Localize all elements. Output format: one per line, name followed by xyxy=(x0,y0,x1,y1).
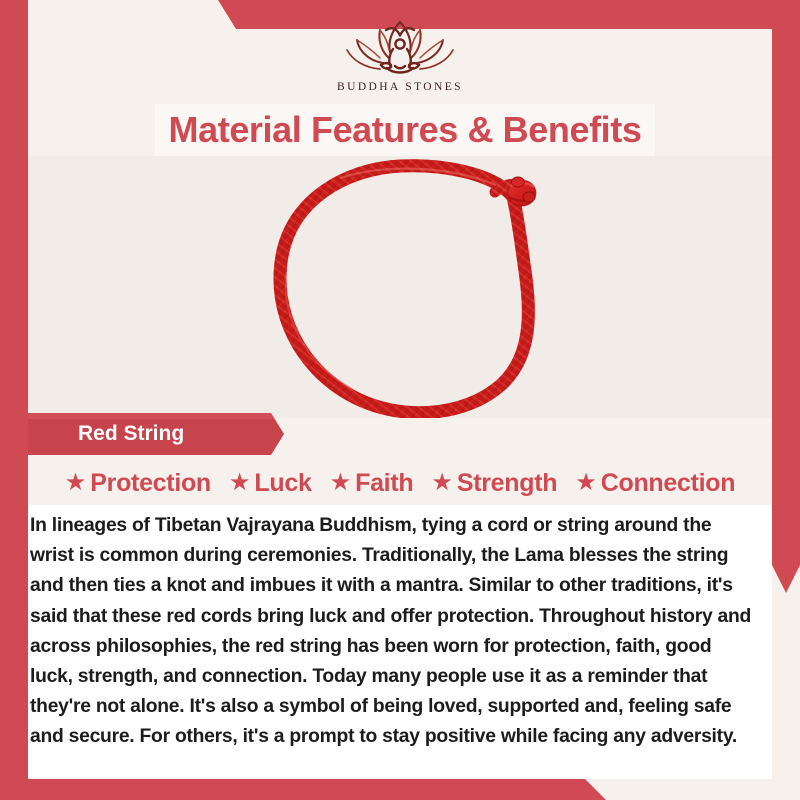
lotus-meditation-icon xyxy=(325,18,475,80)
benefit-item: ★ Faith xyxy=(330,469,414,498)
benefit-label: Luck xyxy=(254,469,311,498)
product-label: Red String xyxy=(78,422,184,446)
product-label-banner: Red String xyxy=(28,413,288,455)
star-icon: ★ xyxy=(65,471,87,495)
benefit-label: Connection xyxy=(601,469,736,498)
benefits-row: ★ Protection ★ Luck ★ Faith ★ Strength ★… xyxy=(28,463,772,503)
benefit-label: Protection xyxy=(90,469,211,498)
benefit-item: ★ Luck xyxy=(229,469,312,498)
description-text: In lineages of Tibetan Vajrayana Buddhis… xyxy=(28,511,758,753)
benefit-label: Faith xyxy=(355,469,413,498)
benefit-label: Strength xyxy=(457,469,557,498)
benefit-item: ★ Connection xyxy=(575,469,735,498)
star-icon: ★ xyxy=(330,471,352,495)
page-title-banner: Material Features & Benefits xyxy=(155,104,655,156)
benefit-item: ★ Protection xyxy=(65,469,211,498)
brand-wordmark: BUDDHA STONES xyxy=(337,81,463,93)
page-title: Material Features & Benefits xyxy=(169,109,642,151)
product-hero-image xyxy=(28,156,772,418)
description-panel: In lineages of Tibetan Vajrayana Buddhis… xyxy=(28,505,772,779)
brand-logo: BUDDHA STONES xyxy=(0,18,800,104)
star-icon: ★ xyxy=(575,471,597,495)
star-icon: ★ xyxy=(431,471,453,495)
benefit-item: ★ Strength xyxy=(431,469,557,498)
red-braided-string-bracelet-photo xyxy=(230,156,570,418)
star-icon: ★ xyxy=(229,471,251,495)
